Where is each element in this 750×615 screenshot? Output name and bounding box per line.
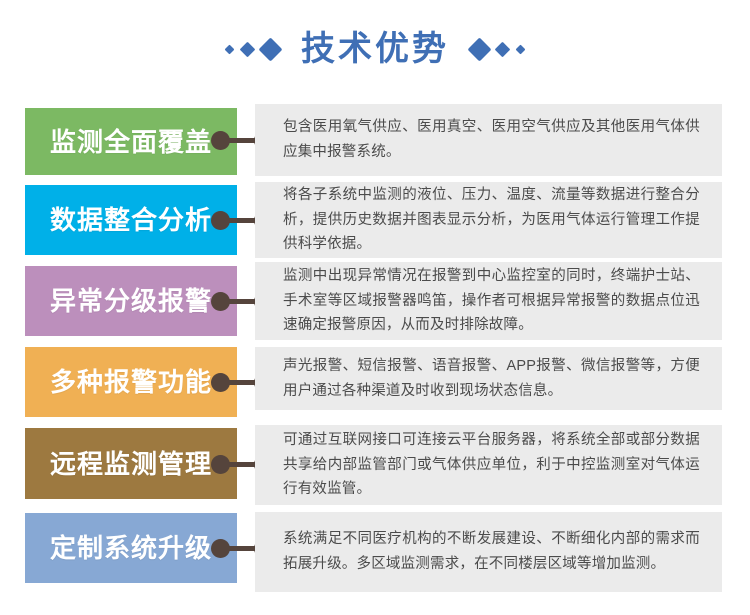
diamond-large-right-icon — [467, 37, 491, 61]
feature-description-box: 将各子系统中监测的液位、压力、温度、流量等数据进行整合分析，提供历史数据并图表显… — [255, 182, 722, 258]
feature-description-text: 将各子系统中监测的液位、压力、温度、流量等数据进行整合分析，提供历史数据并图表显… — [255, 183, 722, 258]
left-diamond-group — [226, 41, 279, 58]
diamond-large-left-icon — [258, 37, 282, 61]
feature-description-box: 包含医用氧气供应、医用真空、医用空气供应及其他医用气体供应集中报警系统。 — [255, 104, 722, 176]
feature-description-box: 监测中出现异常情况在报警到中心监控室的同时，终端护士站、手术室等区域报警器鸣笛，… — [255, 262, 722, 340]
feature-row: 异常分级报警 监测中出现异常情况在报警到中心监控室的同时，终端护士站、手术室等区… — [0, 262, 750, 340]
page-header: 技术优势 — [0, 18, 750, 80]
feature-label-box[interactable]: 远程监测管理 — [25, 428, 237, 499]
diamond-small-right-icon — [516, 44, 526, 54]
page-title: 技术优势 — [301, 32, 449, 66]
feature-label-text: 监测全面覆盖 — [50, 129, 212, 155]
right-diamond-group — [471, 41, 524, 58]
feature-label-box[interactable]: 定制系统升级 — [25, 513, 237, 583]
feature-description-box: 声光报警、短信报警、语音报警、APP报警、微信报警等，方便用户通过各种渠道及时收… — [255, 347, 722, 410]
feature-label-text: 定制系统升级 — [50, 535, 212, 561]
diamond-small-left-icon — [225, 44, 235, 54]
feature-row: 远程监测管理 可通过互联网接口可连接云平台服务器，将系统全部或部分数据共享给内部… — [0, 425, 750, 505]
feature-description-box: 可通过互联网接口可连接云平台服务器，将系统全部或部分数据共享给内部监管部门或气体… — [255, 425, 722, 505]
feature-description-text: 可通过互联网接口可连接云平台服务器，将系统全部或部分数据共享给内部监管部门或气体… — [255, 428, 722, 503]
feature-row: 定制系统升级 系统满足不同医疗机构的不断发展建设、不断细化内部的需求而拓展升级。… — [0, 512, 750, 592]
feature-label-text: 多种报警功能 — [50, 369, 212, 395]
feature-description-text: 系统满足不同医疗机构的不断发展建设、不断细化内部的需求而拓展升级。多区域监测需求… — [255, 527, 722, 577]
feature-label-text: 数据整合分析 — [50, 207, 212, 233]
feature-row: 数据整合分析 将各子系统中监测的液位、压力、温度、流量等数据进行整合分析，提供历… — [0, 182, 750, 258]
diamond-medium-right-icon — [495, 41, 511, 57]
feature-description-text: 包含医用氧气供应、医用真空、医用空气供应及其他医用气体供应集中报警系统。 — [255, 115, 722, 165]
feature-description-text: 监测中出现异常情况在报警到中心监控室的同时，终端护士站、手术室等区域报警器鸣笛，… — [255, 264, 722, 339]
feature-label-box[interactable]: 异常分级报警 — [25, 266, 237, 336]
feature-row: 监测全面覆盖 包含医用氧气供应、医用真空、医用空气供应及其他医用气体供应集中报警… — [0, 104, 750, 176]
diamond-medium-left-icon — [240, 41, 256, 57]
feature-label-box[interactable]: 监测全面覆盖 — [25, 108, 237, 175]
infographic-page: 技术优势 监测全面覆盖 包含医用氧气供应、医用真空、医用空气供应及其他医用气体供… — [0, 0, 750, 615]
feature-label-box[interactable]: 数据整合分析 — [25, 185, 237, 255]
feature-label-text: 远程监测管理 — [50, 451, 212, 477]
feature-row: 多种报警功能 声光报警、短信报警、语音报警、APP报警、微信报警等，方便用户通过… — [0, 347, 750, 410]
feature-label-text: 异常分级报警 — [50, 288, 212, 314]
feature-label-box[interactable]: 多种报警功能 — [25, 347, 237, 417]
feature-description-box: 系统满足不同医疗机构的不断发展建设、不断细化内部的需求而拓展升级。多区域监测需求… — [255, 512, 722, 592]
feature-description-text: 声光报警、短信报警、语音报警、APP报警、微信报警等，方便用户通过各种渠道及时收… — [255, 354, 722, 404]
